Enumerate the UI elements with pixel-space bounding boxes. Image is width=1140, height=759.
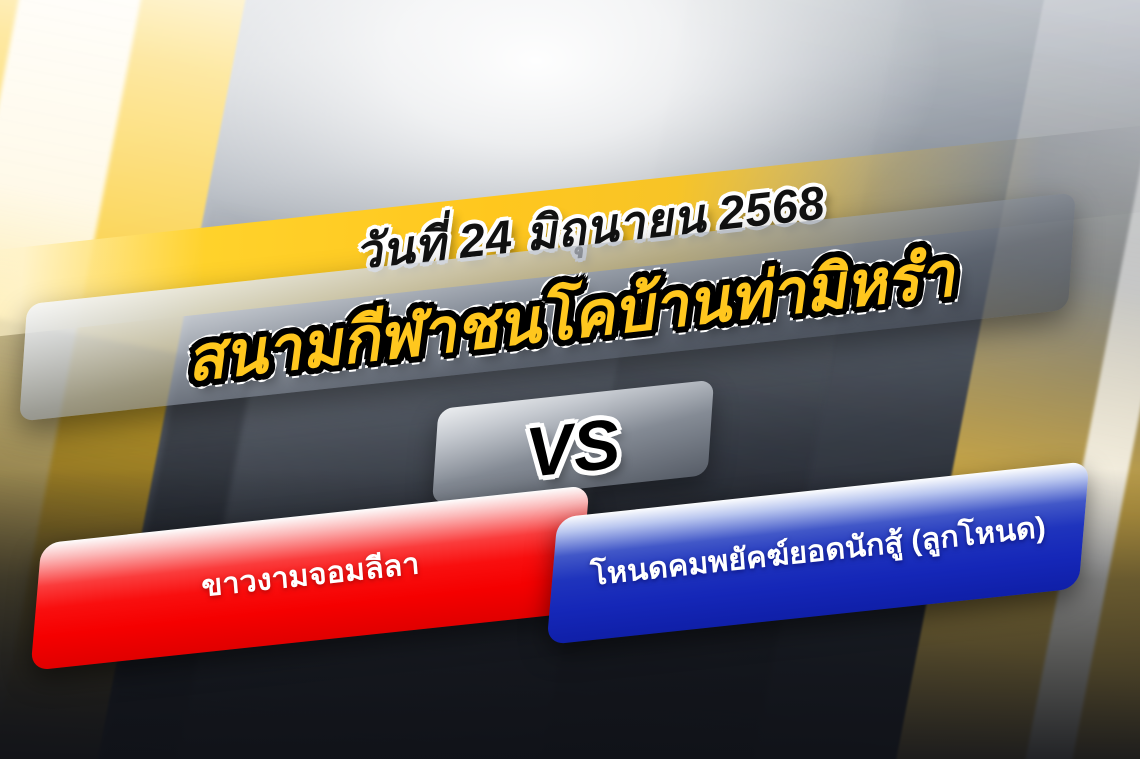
team-name-blue: โหนดคมพยัคฆ์ยอดนักสู้ (ลูกโหนด): [589, 504, 1048, 598]
team-name-red: ขาวงามจอมลีลา: [200, 540, 421, 609]
match-poster: วันที่ 24 มิถุนายน 2568 สนามกีฬาชนโคบ้าน…: [0, 0, 1140, 759]
